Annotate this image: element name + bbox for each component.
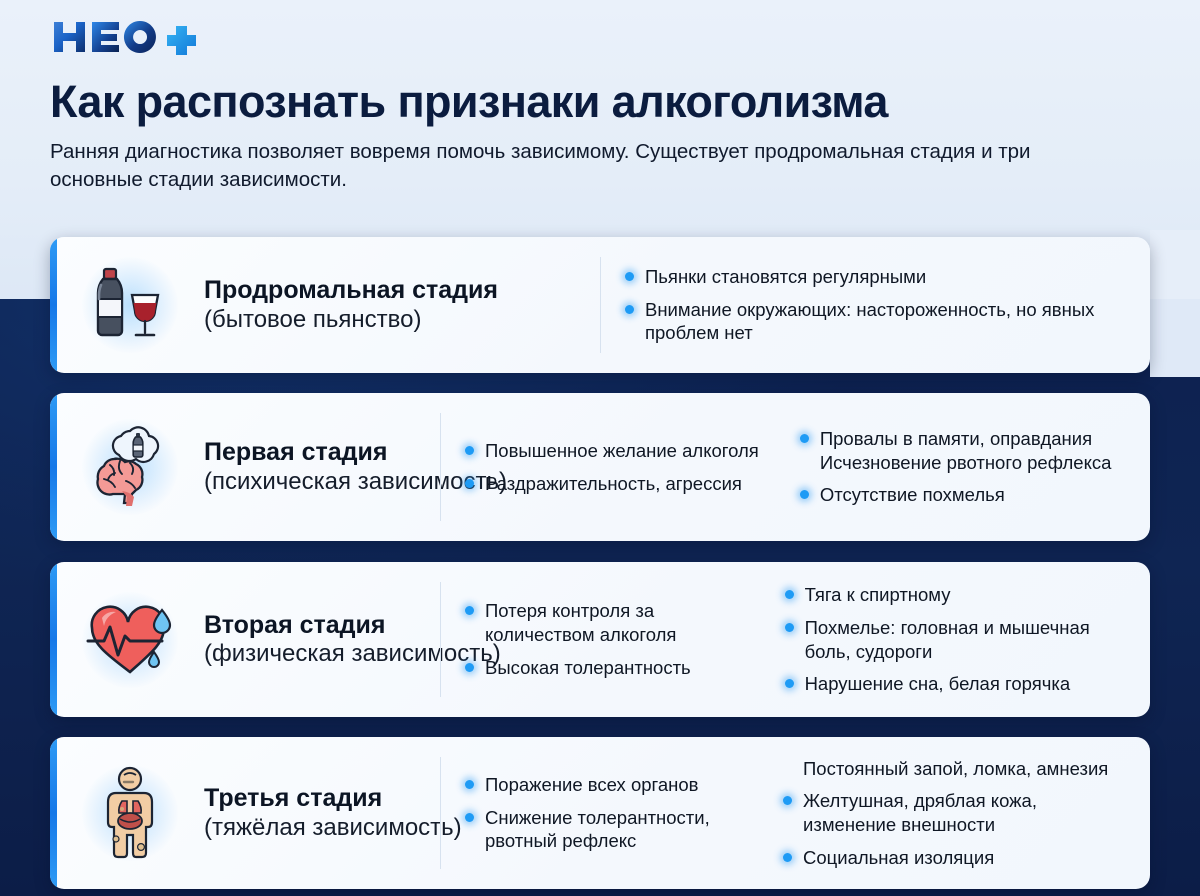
card-left-section: Третья стадия (тяжёлая зависимость) xyxy=(50,737,440,889)
bullet-dot-icon xyxy=(785,590,794,599)
bullet-item: Высокая толерантность xyxy=(465,656,747,680)
bullet-text: Социальная изоляция xyxy=(803,846,994,870)
bullet-text: Снижение толерантности, рвотный рефлекс xyxy=(485,806,745,853)
bullet-item: Постоянный запой, ломка, амнезия xyxy=(783,757,1135,781)
stage-title: Третья стадия (тяжёлая зависимость) xyxy=(204,784,462,841)
neo-plus-logo-icon xyxy=(50,17,210,57)
card-accent-bar xyxy=(50,237,57,373)
bullet-text: Отсутствие похмелья xyxy=(820,483,1005,507)
bullet-item: Желтушная, дряблая кожа, изменение внешн… xyxy=(783,789,1135,836)
bullet-dot-icon xyxy=(800,434,809,443)
stage-card-prodromal[interactable]: Продромальная стадия (бытовое пьянство) … xyxy=(50,237,1150,373)
stage-title-main: Третья стадия xyxy=(204,784,462,813)
bullet-dot-icon xyxy=(785,679,794,688)
heart-with-pulse-icon xyxy=(74,584,186,696)
bullet-dot-icon xyxy=(783,764,792,773)
brand-logo[interactable] xyxy=(50,14,1150,60)
bullet-text: Пьянки становятся регулярными xyxy=(645,265,926,289)
bullet-item: Снижение толерантности, рвотный рефлекс xyxy=(465,806,745,853)
page-title: Как распознать признаки алкоголизма xyxy=(50,78,1150,126)
card-accent-bar xyxy=(50,737,57,889)
background-notch-upper xyxy=(1150,230,1200,300)
stage-title-main: Продромальная стадия xyxy=(204,276,498,305)
bullet-dot-icon xyxy=(800,490,809,499)
bullet-dot-icon xyxy=(465,813,474,822)
card-left-section: Первая стадия (психическая зависимость) xyxy=(50,393,440,541)
bullet-item: Внимание окружающих: настороженность, но… xyxy=(625,298,1107,345)
human-body-organs-icon xyxy=(74,757,186,869)
card-left-section: Вторая стадия (физическая зависимость) xyxy=(50,562,440,717)
card-bullets-area: Поражение всех органов Снижение толерант… xyxy=(441,737,1150,889)
card-bullets-area: Повышенное желание алкоголя Раздражитель… xyxy=(441,393,1150,541)
card-left-section: Продромальная стадия (бытовое пьянство) xyxy=(50,237,600,373)
bullet-text: Тяга к спиртному xyxy=(805,583,951,607)
bullet-item: Тяга к спиртному xyxy=(785,583,1136,607)
bullet-column: Пьянки становятся регулярными Внимание о… xyxy=(601,265,1121,345)
stage-card-first[interactable]: Первая стадия (психическая зависимость) … xyxy=(50,393,1150,541)
bullet-column: Провалы в памяти, оправдания Исчезновени… xyxy=(776,427,1150,507)
bullet-text: Потеря контроля за количеством алкоголя xyxy=(485,599,747,646)
bullet-item: Пьянки становятся регулярными xyxy=(625,265,1107,289)
stage-card-third[interactable]: Третья стадия (тяжёлая зависимость) Пора… xyxy=(50,737,1150,889)
card-bullets-area: Потеря контроля за количеством алкоголя … xyxy=(441,562,1150,717)
stage-title-sub: (бытовое пьянство) xyxy=(204,306,498,334)
bullet-text: Раздражительность, агрессия xyxy=(485,472,742,496)
bullet-item: Провалы в памяти, оправдания Исчезновени… xyxy=(800,427,1136,474)
bullet-item: Нарушение сна, белая горячка xyxy=(785,672,1136,696)
bullet-text: Постоянный запой, ломка, амнезия xyxy=(803,757,1108,781)
bullet-item: Повышенное желание алкоголя xyxy=(465,439,762,463)
brain-with-bottle-thought-icon xyxy=(74,411,186,523)
bullet-text: Желтушная, дряблая кожа, изменение внешн… xyxy=(803,789,1135,836)
bullet-item: Социальная изоляция xyxy=(783,846,1135,870)
bullet-column: Повышенное желание алкоголя Раздражитель… xyxy=(441,439,776,495)
bullet-text: Высокая толерантность xyxy=(485,656,691,680)
bullet-text: Нарушение сна, белая горячка xyxy=(805,672,1071,696)
page-header: Как распознать признаки алкоголизма Ранн… xyxy=(0,0,1200,194)
bullet-text: Внимание окружающих: настороженность, но… xyxy=(645,298,1107,345)
bullet-dot-icon xyxy=(783,853,792,862)
bullet-text: Повышенное желание алкоголя xyxy=(485,439,759,463)
card-accent-bar xyxy=(50,393,57,541)
bullet-item: Похмелье: головная и мышечная боль, судо… xyxy=(785,616,1136,663)
bullet-dot-icon xyxy=(465,606,474,615)
bullet-dot-icon xyxy=(465,479,474,488)
bullet-text: Похмелье: головная и мышечная боль, судо… xyxy=(805,616,1136,663)
bullet-item: Отсутствие похмелья xyxy=(800,483,1136,507)
bullet-text: Поражение всех органов xyxy=(485,773,699,797)
page-subtitle: Ранняя диагностика позволяет вовремя пом… xyxy=(50,138,1110,195)
stage-card-second[interactable]: Вторая стадия (физическая зависимость) П… xyxy=(50,562,1150,717)
bullet-dot-icon xyxy=(625,272,634,281)
bullet-column: Тяга к спиртному Похмелье: головная и мы… xyxy=(761,583,1150,696)
bullet-item: Раздражительность, агрессия xyxy=(465,472,762,496)
stage-title: Продромальная стадия (бытовое пьянство) xyxy=(204,276,498,333)
card-accent-bar xyxy=(50,562,57,717)
wine-bottle-and-glass-icon xyxy=(74,249,186,361)
bullet-dot-icon xyxy=(465,446,474,455)
bullet-text: Провалы в памяти, оправдания Исчезновени… xyxy=(820,427,1136,474)
bullet-dot-icon xyxy=(625,305,634,314)
bullet-column: Постоянный запой, ломка, амнезия Желтушн… xyxy=(759,757,1149,870)
stage-title-sub: (тяжёлая зависимость) xyxy=(204,814,462,842)
bullet-item: Поражение всех органов xyxy=(465,773,745,797)
bullet-dot-icon xyxy=(465,663,474,672)
background-notch-lower xyxy=(1150,299,1200,377)
bullet-item: Потеря контроля за количеством алкоголя xyxy=(465,599,747,646)
bullet-dot-icon xyxy=(465,780,474,789)
bullet-dot-icon xyxy=(785,623,794,632)
bullet-dot-icon xyxy=(783,796,792,805)
bullet-column: Поражение всех органов Снижение толерант… xyxy=(441,773,759,853)
card-bullets-area: Пьянки становятся регулярными Внимание о… xyxy=(601,237,1150,373)
bullet-column: Потеря контроля за количеством алкоголя … xyxy=(441,599,761,679)
